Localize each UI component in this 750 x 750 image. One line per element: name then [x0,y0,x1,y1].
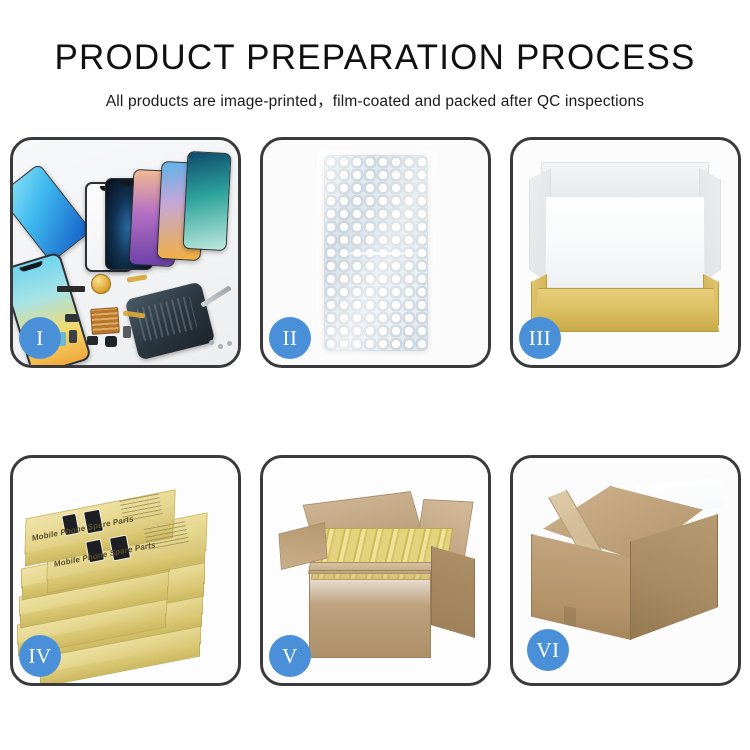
product-preparation-infographic: PRODUCT PREPARATION PROCESS All products… [0,0,750,750]
foam-padding-icon [545,196,705,288]
step-panel-3[interactable]: III [510,137,741,368]
step-panel-5[interactable]: V [260,455,491,686]
step-badge-2: II [269,317,311,359]
step-panel-2[interactable]: II [260,137,491,368]
ic-chip-icon [90,307,120,335]
wrap-seam [329,252,425,255]
page-title: PRODUCT PREPARATION PROCESS [0,40,750,75]
small-part-icon [87,336,98,345]
flex-cable-icon [127,274,148,282]
phone-chassis-icon [125,281,216,360]
step-badge-1: I [19,317,61,359]
screws-icon [209,340,235,350]
phone-teal-icon [182,151,231,251]
step-badge-5: V [269,635,311,677]
small-part-icon [65,314,79,322]
phone-blue-icon [13,163,92,263]
carton-side-face [431,546,475,638]
bubble-wrap-icon [324,155,428,351]
step-panel-6[interactable]: VI [510,455,741,686]
step-badge-3: III [519,317,561,359]
step-panel-4[interactable]: Mobile Phone Spare Parts Mobile Phone Sp… [10,455,241,686]
small-part-icon [123,326,131,338]
open-carton-icon [279,484,475,666]
step-panel-1[interactable]: I [10,137,241,368]
page-subtitle: All products are image-printed，film-coat… [0,89,750,111]
carton-front-face [309,570,431,658]
tweezers-icon [200,285,231,307]
header: PRODUCT PREPARATION PROCESS All products… [0,0,750,111]
step-badge-4: IV [19,635,61,677]
camera-module-icon [105,336,117,347]
small-part-icon [69,330,77,343]
process-steps-grid: I II [10,137,741,685]
step-badge-6: VI [527,629,569,671]
carton-seam [562,666,574,683]
vibration-motor-icon [91,274,111,294]
mailer-box-icon [527,162,723,340]
carton-seam [564,606,576,635]
box-tray-front [533,288,719,332]
speaker-strip-icon [57,286,85,292]
